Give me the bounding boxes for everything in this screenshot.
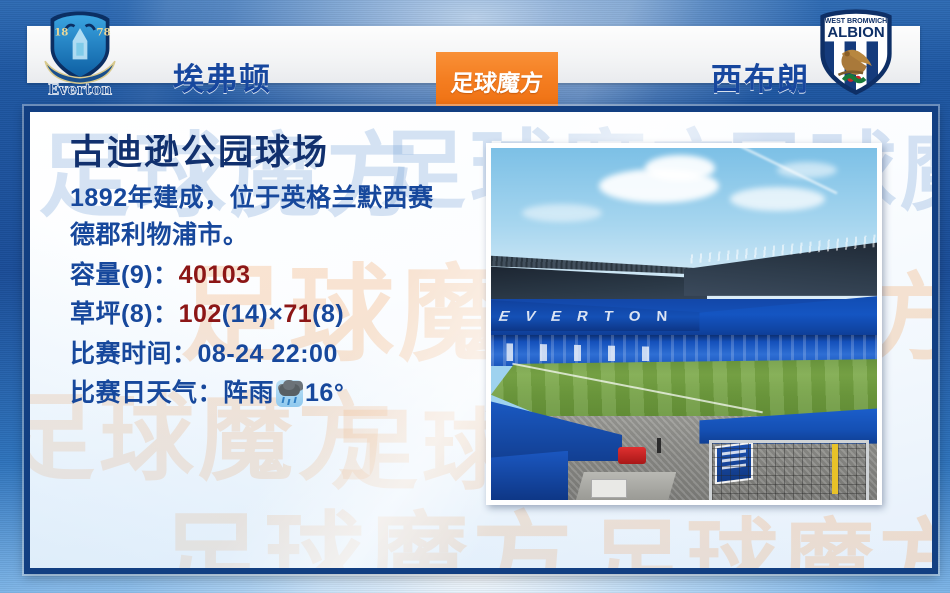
weather-row: 比赛日天气：阵雨16° bbox=[70, 374, 490, 414]
ground-post bbox=[657, 438, 661, 453]
foreground-seating bbox=[491, 451, 568, 500]
everton-crest: 18 78 Everton bbox=[34, 6, 126, 98]
brand-label: 足球魔方 bbox=[450, 64, 544, 98]
yellow-handrail bbox=[832, 444, 838, 494]
stadium-title: 古迪逊公园球场 bbox=[70, 134, 490, 173]
pitch-width: 71 bbox=[283, 300, 312, 328]
pitch-length: 102 bbox=[179, 300, 222, 328]
card-inner: 足球魔方足球魔方足球魔方足球魔方足球魔方足球魔方足球魔方足球魔方足球魔方 古迪逊… bbox=[30, 112, 932, 568]
pitch-row: 草坪(8)：102(14)×71(8) bbox=[70, 295, 490, 335]
svg-text:18: 18 bbox=[54, 26, 68, 38]
stadium-photo-frame[interactable]: EVERTON bbox=[486, 143, 882, 505]
match-header-bar: 埃弗顿 西布朗 足球魔方 bbox=[27, 26, 920, 83]
pitch-label: 草坪(8)： bbox=[70, 300, 179, 328]
metal-railing bbox=[709, 440, 869, 500]
stadium-info-card: 足球魔方足球魔方足球魔方足球魔方足球魔方足球魔方足球魔方足球魔方足球魔方 古迪逊… bbox=[24, 106, 938, 574]
svg-text:78: 78 bbox=[97, 26, 111, 38]
capacity-value: 40103 bbox=[179, 261, 251, 289]
svg-text:ALBION: ALBION bbox=[827, 24, 884, 41]
stand-wordmark: EVERTON bbox=[496, 309, 873, 326]
match-time-label: 比赛时间： bbox=[70, 340, 198, 368]
capacity-label: 容量(9)： bbox=[70, 261, 179, 289]
goodison-park-stadium-photo: EVERTON bbox=[491, 148, 877, 500]
weather-condition: 阵雨 bbox=[223, 379, 274, 407]
brand-badge[interactable]: 足球魔方 bbox=[436, 52, 558, 109]
stadium-description-line2: 德郡利物浦市。 bbox=[70, 218, 460, 254]
weather-temperature: 16° bbox=[305, 379, 344, 407]
weather-label: 比赛日天气： bbox=[70, 379, 223, 407]
pitch-length-rank: (14) bbox=[222, 300, 268, 328]
rain-shower-icon bbox=[276, 380, 303, 407]
match-time-value: 08-24 22:00 bbox=[198, 340, 338, 368]
svg-text:Everton: Everton bbox=[48, 81, 113, 98]
match-stadium-infographic: 埃弗顿 西布朗 足球魔方 18 78 Everton bbox=[0, 0, 950, 593]
cloud bbox=[730, 187, 825, 211]
cloud bbox=[645, 155, 715, 181]
wall-notice-plate bbox=[591, 479, 627, 498]
home-team-name: 埃弗顿 bbox=[173, 54, 272, 99]
away-team-name: 西布朗 bbox=[711, 54, 810, 99]
pitch-width-rank: (8) bbox=[312, 300, 344, 328]
cloud bbox=[777, 162, 837, 178]
match-time-row: 比赛时间：08-24 22:00 bbox=[70, 335, 490, 375]
stadium-text-column: 古迪逊公园球场 1892年建成，位于英格兰默西赛 德郡利物浦市。 容量(9)：4… bbox=[70, 134, 490, 414]
stadium-description-line1: 1892年建成，位于英格兰默西赛 bbox=[70, 181, 460, 217]
capacity-row: 容量(9)：40103 bbox=[70, 256, 490, 296]
red-equipment-box bbox=[618, 447, 646, 464]
pitch-dimension-separator: × bbox=[268, 300, 283, 328]
west-bromwich-albion-crest: WEST BROMWICH ALBION bbox=[812, 8, 904, 96]
